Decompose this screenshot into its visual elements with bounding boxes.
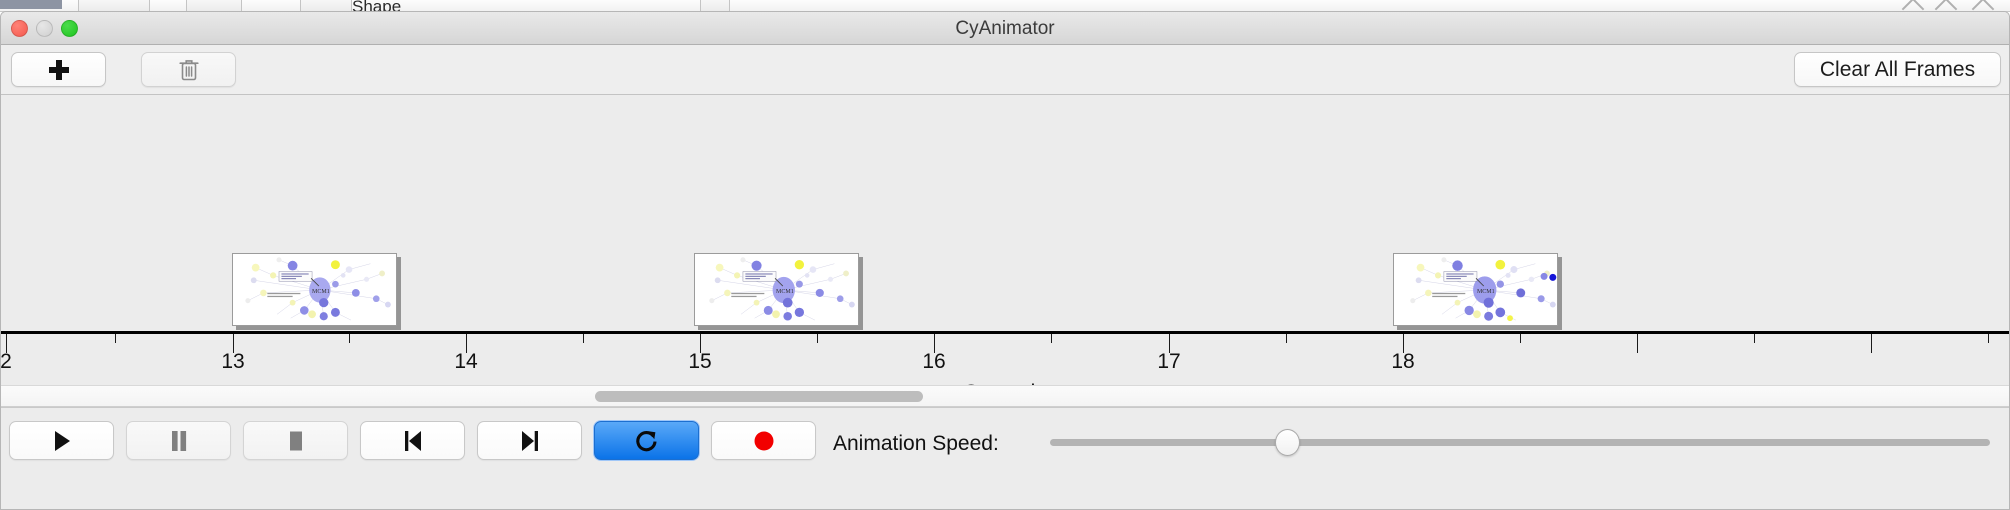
record-icon (752, 429, 776, 453)
ruler-label: 17 (1157, 350, 1180, 374)
toolbar: Clear All Frames (1, 45, 2009, 95)
skip-backward-icon (402, 429, 424, 453)
background-window-selected-region (0, 0, 62, 9)
horizontal-scrollbar[interactable] (1, 385, 2009, 407)
timeline-panel[interactable]: MCM1 (1, 95, 2009, 385)
ruler-tick-major (1871, 334, 1872, 353)
ruler-tick-minor (583, 334, 584, 343)
loop-icon (634, 428, 660, 454)
skip-to-start-button[interactable] (360, 421, 465, 460)
record-button[interactable] (711, 421, 816, 460)
plus-icon (49, 60, 69, 80)
frame-thumbnail[interactable]: MCM1 (232, 253, 397, 326)
ruler-tick-minor (1988, 334, 1989, 343)
frame-thumbnail[interactable]: MCM1 (1393, 253, 1558, 326)
scrollbar-thumb[interactable] (595, 391, 923, 402)
animation-speed-slider[interactable] (1050, 439, 1990, 446)
ruler-label: 15 (688, 350, 711, 374)
network-graph-thumbnail: MCM1 (233, 254, 396, 325)
animation-speed-label: Animation Speed: (833, 432, 999, 456)
ruler-tick-minor (1051, 334, 1052, 343)
ruler-tick-minor (349, 334, 350, 343)
cyanimator-window: CyAnimator Clear All Frames (0, 11, 2010, 510)
ruler-tick-minor (115, 334, 116, 343)
network-graph-thumbnail: MCM1 (695, 254, 858, 325)
stop-button[interactable] (243, 421, 348, 460)
ruler-tick-major (1637, 334, 1638, 353)
ruler-tick-minor (1520, 334, 1521, 343)
ruler-label: 16 (922, 350, 945, 374)
timeline-ruler (1, 331, 2009, 334)
slider-thumb[interactable] (1275, 429, 1300, 456)
add-frame-button[interactable] (11, 52, 106, 87)
delete-frame-button[interactable] (141, 52, 236, 87)
clear-all-frames-label: Clear All Frames (1820, 58, 1975, 82)
play-icon (51, 429, 73, 453)
ruler-label: 18 (1391, 350, 1414, 374)
ruler-tick-minor (817, 334, 818, 343)
pause-icon (168, 429, 190, 453)
title-bar: CyAnimator (1, 12, 2009, 45)
window-title: CyAnimator (1, 12, 2009, 45)
ruler-tick-minor (1286, 334, 1287, 343)
pause-button[interactable] (126, 421, 231, 460)
svg-text:MCM1: MCM1 (776, 289, 794, 295)
skip-to-end-button[interactable] (477, 421, 582, 460)
playback-bar: Animation Speed: (1, 407, 2009, 473)
ruler-tick-minor (1754, 334, 1755, 343)
svg-text:MCM1: MCM1 (1477, 289, 1495, 295)
ruler-label: 14 (454, 350, 477, 374)
svg-text:MCM1: MCM1 (312, 289, 330, 295)
network-graph-thumbnail: MCM1 (1394, 254, 1557, 325)
ruler-label: 2 (1, 350, 12, 374)
clear-all-frames-button[interactable]: Clear All Frames (1794, 52, 2001, 87)
loop-button[interactable] (594, 421, 699, 460)
ruler-label: 13 (221, 350, 244, 374)
stop-icon (285, 429, 307, 453)
skip-forward-icon (519, 429, 541, 453)
trash-icon (178, 58, 200, 82)
frame-thumbnail[interactable]: MCM1 (694, 253, 859, 326)
play-button[interactable] (9, 421, 114, 460)
